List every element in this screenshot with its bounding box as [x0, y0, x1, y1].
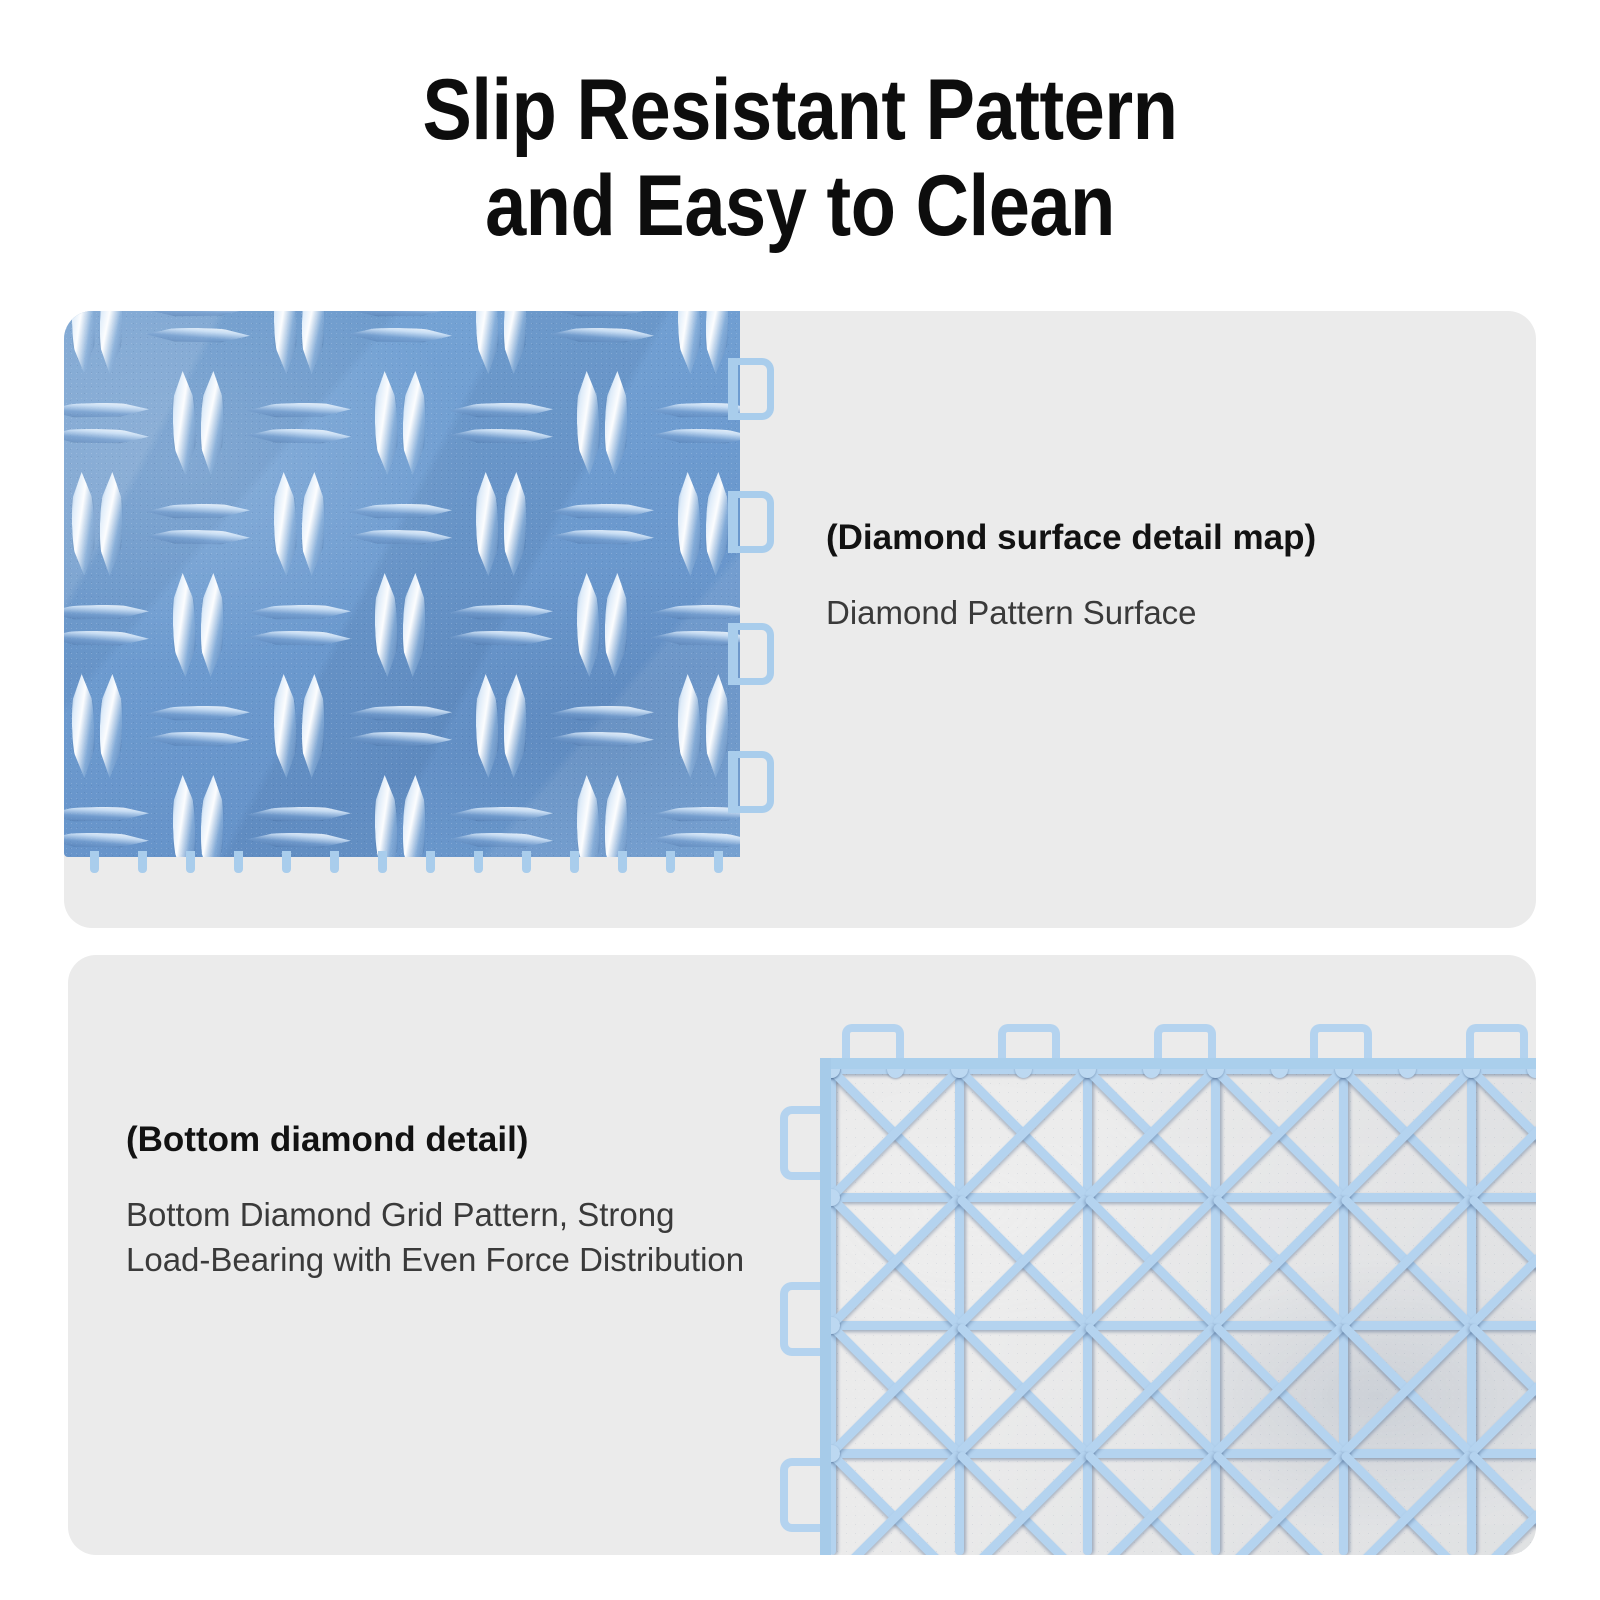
diamond-lens-horizontal	[246, 402, 350, 417]
diamond-lens-horizontal	[448, 832, 552, 847]
diamond-lens-vertical	[704, 673, 729, 778]
diamond-lens-horizontal	[246, 832, 350, 847]
grid-rib-horizontal	[820, 1193, 1536, 1202]
grid-rib-diagonal	[1084, 1066, 1218, 1200]
grid-rib-diagonal	[1468, 1194, 1536, 1328]
diamond-lens-horizontal	[650, 832, 740, 847]
grid-rib-vertical	[1467, 1058, 1476, 1555]
connector-tab-top	[998, 1024, 1060, 1058]
edge-nub-bottom	[714, 851, 723, 873]
diamond-lens-vertical	[199, 370, 224, 475]
connector-tab-left	[780, 1106, 824, 1180]
diamond-lens-vertical	[171, 774, 196, 857]
grid-rib-diagonal	[1468, 1322, 1536, 1456]
diamond-lens-horizontal	[246, 428, 350, 443]
diamond-lens-horizontal	[650, 630, 740, 645]
diamond-lens-vertical	[300, 471, 325, 576]
connector-tab-right	[738, 491, 774, 553]
edge-nub-bottom	[234, 851, 243, 873]
diamond-lens-vertical	[603, 774, 628, 857]
grid-rib-diagonal	[1212, 1450, 1346, 1555]
diamond-lens-vertical	[373, 572, 398, 677]
bottom-diamond-body: Bottom Diamond Grid Pattern, Strong Load…	[126, 1192, 766, 1282]
grid-rib-diagonal	[1340, 1322, 1474, 1456]
tile-grain-texture	[64, 311, 740, 857]
connector-tab-left	[780, 1282, 824, 1356]
diamond-lens-vertical	[98, 311, 123, 374]
diamond-lens-vertical	[401, 572, 426, 677]
diamond-lens-vertical	[70, 673, 95, 778]
edge-nub-bottom	[186, 851, 195, 873]
diamond-plate-tile	[64, 311, 740, 857]
diamond-lens-horizontal	[246, 630, 350, 645]
diamond-surface-body: Diamond Pattern Surface	[826, 590, 1486, 635]
edge-nub-bottom	[330, 851, 339, 873]
diamond-lens-horizontal	[448, 604, 552, 619]
diamond-lens-vertical	[575, 774, 600, 857]
diamond-lens-horizontal	[246, 806, 350, 821]
diamond-lens-vertical	[70, 471, 95, 576]
diamond-lens-vertical	[575, 572, 600, 677]
grid-rib-diagonal	[828, 1450, 962, 1555]
title-line-1: Slip Resistant Pattern	[112, 62, 1488, 158]
grid-rib-diagonal	[1212, 1066, 1346, 1200]
grid-rib-diagonal	[1212, 1322, 1346, 1456]
diamond-lens-vertical	[575, 370, 600, 475]
diamond-lens-vertical	[171, 572, 196, 677]
diamond-lens-vertical	[704, 471, 729, 576]
diamond-lens-horizontal	[145, 503, 249, 518]
diamond-lens-horizontal	[64, 806, 149, 821]
diamond-lens-horizontal	[650, 604, 740, 619]
grid-rib-diagonal	[1468, 1450, 1536, 1555]
edge-nub-bottom	[426, 851, 435, 873]
grid-rib-diagonal	[828, 1066, 962, 1200]
grid-rib-diagonal	[828, 1322, 962, 1456]
diamond-lens-vertical	[98, 471, 123, 576]
diamond-lens-horizontal	[549, 311, 653, 316]
diamond-lens-horizontal	[145, 311, 249, 316]
diamond-lens-horizontal	[448, 428, 552, 443]
diamond-lens-horizontal	[549, 503, 653, 518]
diamond-lens-horizontal	[448, 806, 552, 821]
tile-underside-grain	[820, 1058, 1536, 1555]
grid-rib-diagonal	[1468, 1194, 1536, 1328]
diamond-lens-horizontal	[145, 705, 249, 720]
tile-top-rim	[820, 1058, 1536, 1069]
grid-rib-diagonal	[1084, 1322, 1218, 1456]
diamond-lens-vertical	[272, 471, 297, 576]
grid-rib-diagonal	[956, 1322, 1090, 1456]
diamond-lens-horizontal	[650, 402, 740, 417]
diamond-lens-vertical	[373, 774, 398, 857]
diamond-surface-text: (Diamond surface detail map) Diamond Pat…	[826, 516, 1486, 635]
grid-rib-diagonal	[1084, 1194, 1218, 1328]
diamond-lens-horizontal	[347, 529, 451, 544]
diamond-lens-horizontal	[145, 529, 249, 544]
grid-rib-diagonal	[1468, 1450, 1536, 1555]
diamond-lens-horizontal	[64, 402, 149, 417]
grid-rib-horizontal	[820, 1449, 1536, 1458]
page-title: Slip Resistant Pattern and Easy to Clean	[0, 62, 1600, 254]
diamond-lens-horizontal	[448, 402, 552, 417]
diamond-lens-horizontal	[549, 731, 653, 746]
grid-rib-diagonal	[1468, 1322, 1536, 1456]
diamond-lens-horizontal	[347, 327, 451, 342]
diamond-lens-vertical	[272, 673, 297, 778]
connector-tab-top	[842, 1024, 904, 1058]
panel-diamond-surface: (Diamond surface detail map) Diamond Pat…	[64, 311, 1536, 928]
diamond-lens-horizontal	[246, 604, 350, 619]
diamond-lens-vertical	[474, 311, 499, 374]
grid-rib-diagonal	[1212, 1066, 1346, 1200]
diamond-lens-horizontal	[64, 832, 149, 847]
grid-rib-diagonal	[1084, 1066, 1218, 1200]
grid-rib-horizontal	[820, 1321, 1536, 1330]
diamond-lens-vertical	[676, 471, 701, 576]
grid-rib-diagonal	[1084, 1322, 1218, 1456]
grid-rib-diagonal	[1340, 1066, 1474, 1200]
diamond-lens-vertical	[474, 673, 499, 778]
grid-rib-diagonal	[1468, 1066, 1536, 1200]
grid-rib-diagonal	[956, 1194, 1090, 1328]
diamond-lens-horizontal	[347, 311, 451, 316]
bottom-diamond-text: (Bottom diamond detail) Bottom Diamond G…	[126, 1118, 766, 1282]
grid-rib-diagonal	[828, 1194, 962, 1328]
diamond-lens-horizontal	[347, 731, 451, 746]
edge-nub-bottom	[378, 851, 387, 873]
diamond-lens-horizontal	[64, 604, 149, 619]
connector-tab-top	[1466, 1024, 1528, 1058]
diamond-lens-vertical	[502, 673, 527, 778]
diamond-lens-vertical	[704, 311, 729, 374]
connector-tab-right	[738, 358, 774, 420]
diamond-lens-vertical	[676, 311, 701, 374]
diamond-lens-horizontal	[650, 806, 740, 821]
grid-rib-diagonal	[1084, 1450, 1218, 1555]
tile-underside	[820, 1058, 1536, 1555]
grid-rib-diagonal	[1212, 1194, 1346, 1328]
grid-rib-diagonal	[956, 1322, 1090, 1456]
diamond-lens-horizontal	[448, 630, 552, 645]
grid-rib-diagonal	[1340, 1194, 1474, 1328]
tile-facet-shading	[64, 311, 740, 857]
diamond-lens-vertical	[676, 673, 701, 778]
connector-tab-right	[738, 623, 774, 685]
grid-rib-diagonal	[1340, 1066, 1474, 1200]
diamond-lens-vertical	[98, 673, 123, 778]
grid-rib-diagonal	[828, 1322, 962, 1456]
grid-rib-vertical	[1083, 1058, 1092, 1555]
edge-nub-bottom	[474, 851, 483, 873]
title-line-2: and Easy to Clean	[112, 158, 1488, 254]
bottom-grid-image	[780, 1020, 1536, 1555]
edge-nub-bottom	[618, 851, 627, 873]
edge-nub-bottom	[90, 851, 99, 873]
edge-nub-bottom	[522, 851, 531, 873]
tile-cell-shading	[820, 1058, 1536, 1555]
grid-rib-vertical	[955, 1058, 964, 1555]
grid-rib-vertical	[1339, 1058, 1348, 1555]
diamond-lens-horizontal	[347, 705, 451, 720]
diamond-lens-horizontal	[650, 428, 740, 443]
diamond-lens-vertical	[603, 370, 628, 475]
grid-rib-diagonal	[1084, 1194, 1218, 1328]
bottom-diamond-heading: (Bottom diamond detail)	[126, 1118, 766, 1162]
grid-rib-diagonal	[1212, 1322, 1346, 1456]
diamond-lens-horizontal	[145, 731, 249, 746]
edge-nub-bottom	[138, 851, 147, 873]
diamond-surface-image	[64, 311, 764, 857]
diamond-lens-vertical	[70, 311, 95, 374]
diamond-lens-horizontal	[145, 327, 249, 342]
diamond-lens-vertical	[171, 370, 196, 475]
diamond-lens-vertical	[199, 572, 224, 677]
diamond-lens-vertical	[603, 572, 628, 677]
diamond-lens-horizontal	[549, 327, 653, 342]
edge-nub-bottom	[666, 851, 675, 873]
diamond-lens-horizontal	[64, 428, 149, 443]
grid-rib-diagonal	[1212, 1450, 1346, 1555]
diamond-lens-vertical	[272, 311, 297, 374]
edge-nub-bottom	[282, 851, 291, 873]
diamond-lens-vertical	[502, 311, 527, 374]
grid-rib-diagonal	[1084, 1450, 1218, 1555]
grid-rib-diagonal	[956, 1450, 1090, 1555]
grid-rib-diagonal	[1340, 1322, 1474, 1456]
grid-rib-diagonal	[956, 1066, 1090, 1200]
grid-rib-diagonal	[1340, 1450, 1474, 1555]
diamond-lens-vertical	[502, 471, 527, 576]
diamond-surface-heading: (Diamond surface detail map)	[826, 516, 1486, 560]
diamond-lens-horizontal	[549, 529, 653, 544]
grid-rib-diagonal	[1340, 1194, 1474, 1328]
diamond-lens-horizontal	[64, 630, 149, 645]
connector-tab-top	[1310, 1024, 1372, 1058]
grid-rib-diagonal	[828, 1066, 962, 1200]
grid-rib-diagonal	[828, 1450, 962, 1555]
diamond-lens-vertical	[401, 370, 426, 475]
edge-nub-bottom	[570, 851, 579, 873]
diamond-lens-vertical	[300, 311, 325, 374]
grid-rib-diagonal	[828, 1194, 962, 1328]
diamond-lens-vertical	[373, 370, 398, 475]
grid-rib-diagonal	[1468, 1066, 1536, 1200]
diamond-lens-vertical	[199, 774, 224, 857]
diamond-lens-vertical	[474, 471, 499, 576]
diamond-lens-vertical	[300, 673, 325, 778]
connector-tab-right	[738, 751, 774, 813]
grid-rib-diagonal	[1212, 1194, 1346, 1328]
diamond-lens-horizontal	[549, 705, 653, 720]
connector-tab-left	[780, 1458, 824, 1532]
grid-rib-diagonal	[956, 1066, 1090, 1200]
connector-tab-top	[1154, 1024, 1216, 1058]
grid-rib-diagonal	[956, 1194, 1090, 1328]
grid-rib-diagonal	[1340, 1450, 1474, 1555]
panel-bottom-diamond: (Bottom diamond detail) Bottom Diamond G…	[68, 955, 1536, 1555]
diamond-lens-vertical	[401, 774, 426, 857]
grid-rib-diagonal	[956, 1450, 1090, 1555]
grid-rib-vertical	[1211, 1058, 1220, 1555]
diamond-lens-horizontal	[347, 503, 451, 518]
tile-left-rim	[820, 1058, 831, 1555]
